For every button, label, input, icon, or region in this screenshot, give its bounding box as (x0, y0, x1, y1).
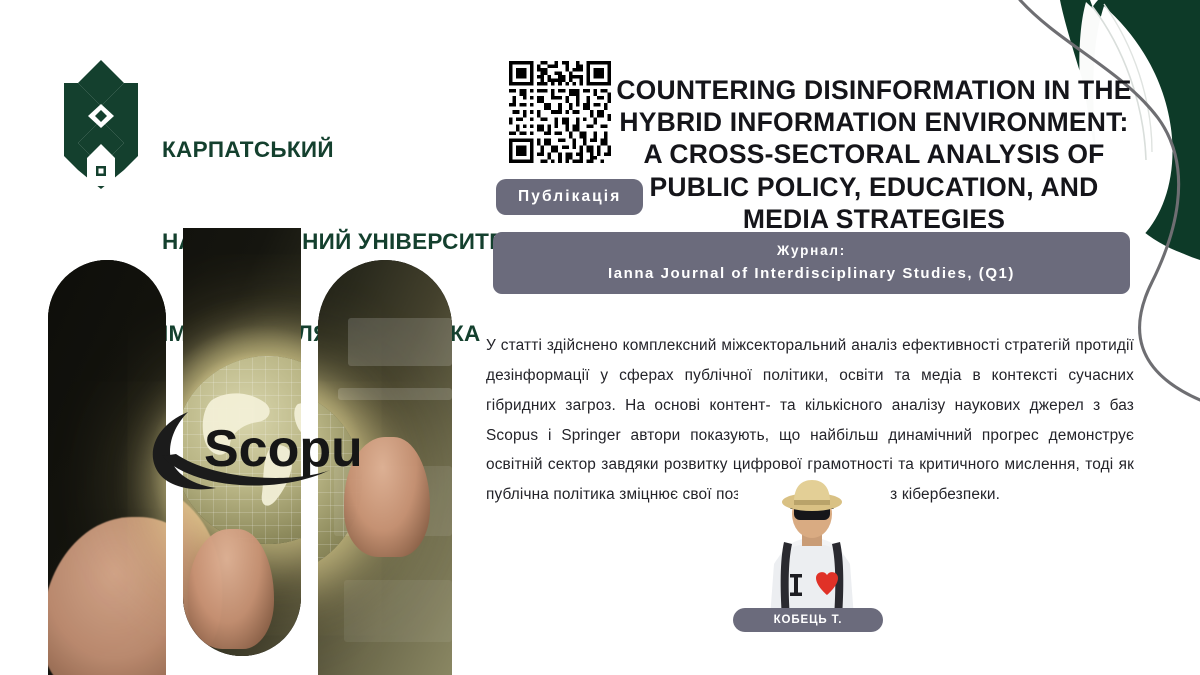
author-name-badge[interactable]: КОБЕЦЬ Т. (733, 608, 883, 632)
tech-pane-1 (348, 318, 452, 366)
tech-pane-4 (344, 580, 452, 642)
article-illustration-collage: Scopus (48, 228, 452, 675)
scopus-wordmark: Scopus (204, 420, 359, 478)
publication-poster: КАРПАТСЬКИЙ НАЦІОНАЛЬНИЙ УНІВЕРСИТЕТ ІМЕ… (0, 0, 1200, 675)
qr-code-icon[interactable] (509, 61, 611, 163)
tech-pane-2 (338, 388, 452, 400)
author-portrait-photo (738, 478, 886, 618)
journal-label: Журнал: (777, 240, 846, 262)
journal-banner: Журнал: Ianna Journal of Interdisciplina… (493, 232, 1130, 294)
journal-name: Ianna Journal of Interdisciplinary Studi… (608, 262, 1015, 286)
hand-shape (48, 517, 166, 675)
scopus-logo: Scopus (144, 404, 359, 490)
page-title: COUNTERING DISINFORMATION IN THE HYBRID … (614, 74, 1134, 236)
karpatskyi-university-crest-icon (62, 58, 140, 190)
finger-shape (188, 529, 274, 649)
university-name-line-1: КАРПАТСЬКИЙ (162, 135, 519, 166)
